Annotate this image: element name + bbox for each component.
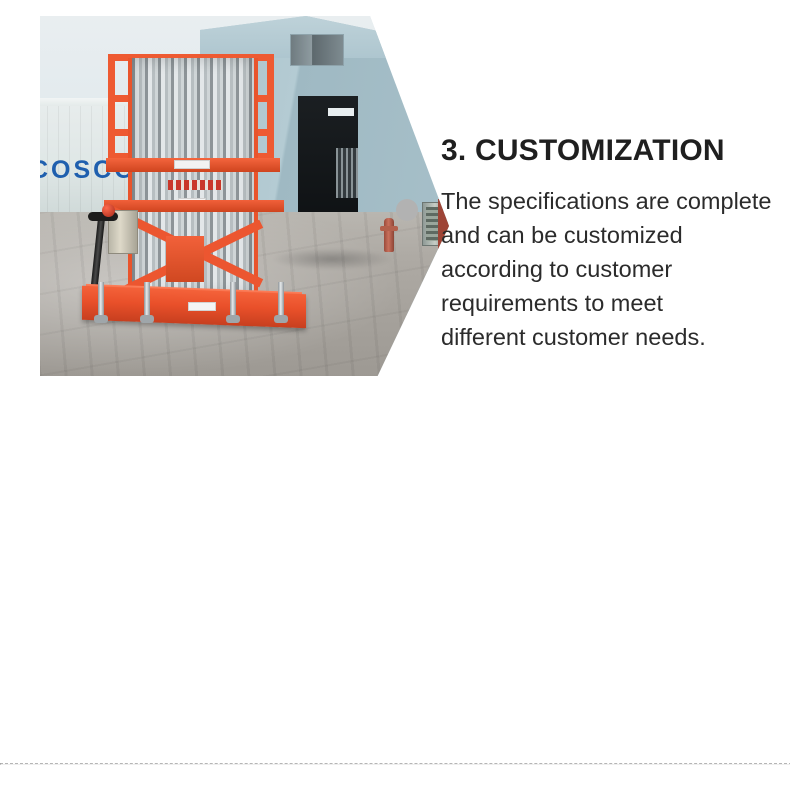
counterweight-block xyxy=(166,236,204,282)
customization-heading: 3. CUSTOMIZATION xyxy=(441,132,785,170)
customization-body: The specifications are complete and can … xyxy=(441,170,785,354)
body-line: according to customer xyxy=(441,252,785,286)
tow-handle-knob xyxy=(102,204,115,217)
deck-label-sticker xyxy=(174,160,210,169)
aluminum-alloy-lift-machine xyxy=(82,54,306,340)
promotional-feature-page: COSCO xyxy=(0,0,790,788)
customization-text-block: 3. CUSTOMIZATION The specifications are … xyxy=(441,132,785,354)
body-line: requirements to meet xyxy=(441,286,785,320)
outrigger-leg xyxy=(98,282,104,318)
body-line: The specifications are complete xyxy=(441,184,785,218)
base-sticker xyxy=(188,302,216,311)
body-line: different customer needs. xyxy=(441,320,785,354)
tow-handle xyxy=(88,206,122,292)
body-line: and can be customized xyxy=(441,218,785,252)
section-products-in-stock: 4.PRODUCTS IN STOCK Source manufacturers… xyxy=(0,378,790,755)
outrigger-leg xyxy=(144,282,150,318)
fire-hydrant xyxy=(384,218,394,252)
chevron-tip-dot-icon xyxy=(396,199,418,221)
doorway-lintel xyxy=(328,108,354,116)
hose-reel-strip xyxy=(168,180,222,190)
outrigger-leg xyxy=(278,282,284,318)
section-divider xyxy=(0,763,790,765)
doorway-grill xyxy=(336,148,358,198)
outrigger-leg xyxy=(230,282,236,318)
outdoor-scene: COSCO xyxy=(40,16,450,376)
outdoor-aluminum-alloy-lift-image: COSCO xyxy=(40,16,450,376)
section-customization: COSCO xyxy=(0,0,790,376)
